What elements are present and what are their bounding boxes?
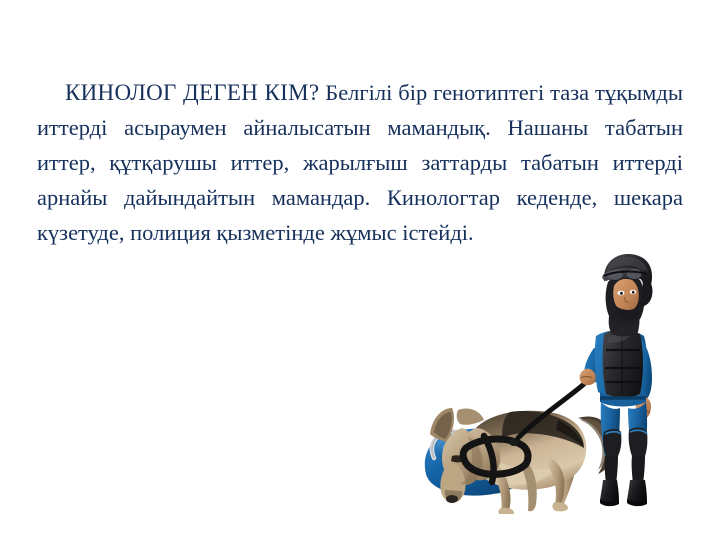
police-dog-handler	[580, 254, 653, 506]
k9-officer-illustration	[418, 252, 670, 514]
german-shepherd-dog	[430, 408, 614, 514]
slide-canvas: КИНОЛОГ ДЕГЕН КІМ? Белгілі бір генотипте…	[0, 0, 720, 540]
slide-headline: КИНОЛОГ ДЕГЕН КІМ?	[65, 80, 319, 105]
slide-body-paragraph: КИНОЛОГ ДЕГЕН КІМ? Белгілі бір генотипте…	[37, 75, 683, 250]
